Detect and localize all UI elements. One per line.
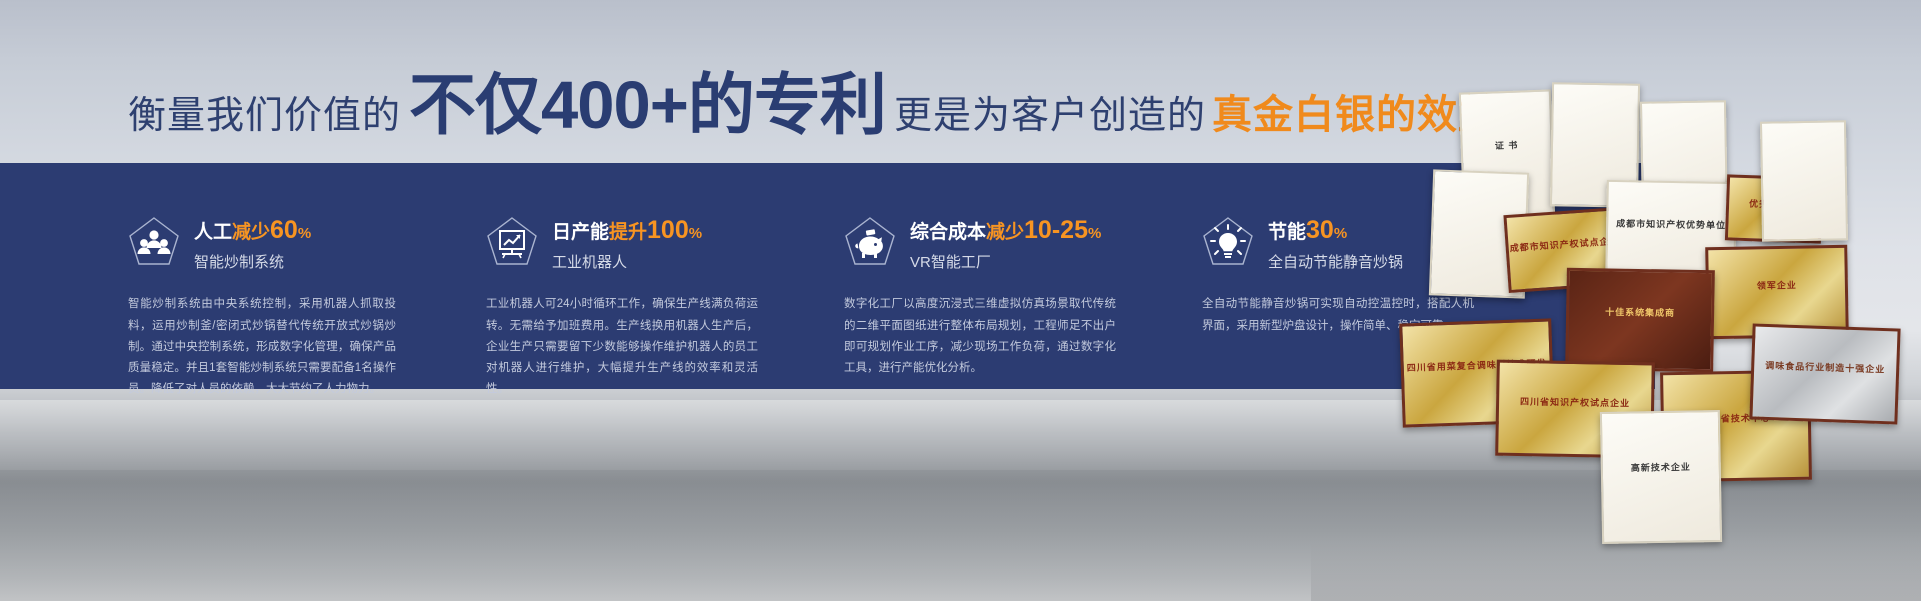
- feature-unit: %: [689, 225, 702, 242]
- feature-item-cost: 综合成本减少10-25% VR智能工厂 数字化工厂以高度沉浸式三维虚拟仿真场景取…: [844, 163, 1174, 389]
- feature-title: 节能30%: [1268, 215, 1403, 246]
- feature-value: 10-25: [1024, 216, 1088, 244]
- certificate-item: 四川省技术中心: [1660, 370, 1812, 483]
- certificate-item: 优秀供应商: [1725, 174, 1823, 243]
- features-list: 人工减少60% 智能炒制系统 智能炒制系统由中央系统控制，采用机器人抓取投料，运…: [0, 163, 1655, 389]
- headline-tail: 更是为客户创造的: [894, 84, 1206, 139]
- feature-body-text: 智能炒制系统由中央系统控制，采用机器人抓取投料，运用炒制釜/密闭式炒锅替代传统开…: [128, 294, 396, 400]
- feature-title: 综合成本减少10-25%: [910, 215, 1101, 246]
- feature-item-labor: 人工减少60% 智能炒制系统 智能炒制系统由中央系统控制，采用机器人抓取投料，运…: [128, 163, 458, 389]
- feature-title: 日产能提升100%: [552, 215, 702, 246]
- certificate-label: 四川省技术中心: [1664, 410, 1808, 426]
- sky-horizon-haze: [0, 400, 1921, 520]
- certificate-item: 领军企业: [1705, 245, 1849, 339]
- feature-subtitle: 智能炒制系统: [194, 251, 311, 272]
- headline-accent: 真金白银的效益: [1212, 82, 1499, 140]
- feature-header: 综合成本减少10-25% VR智能工厂: [844, 215, 1174, 272]
- features-panel: 人工减少60% 智能炒制系统 智能炒制系统由中央系统控制，采用机器人抓取投料，运…: [0, 163, 1655, 389]
- certificate-label: 调味食品行业制造十强企业: [1754, 358, 1896, 376]
- headline-emphasis: 不仅400+的专利: [409, 74, 886, 138]
- certificate-label: 高新技术企业: [1603, 459, 1719, 474]
- certificate-label: 领军企业: [1709, 277, 1845, 292]
- promo-banner: 衡量我们价值的 不仅400+的专利 更是为客户创造的 真金白银的效益: [0, 0, 1921, 601]
- certificate-item: 调味食品行业制造十强企业: [1749, 323, 1900, 424]
- feature-title-highlight: 减少: [232, 222, 270, 243]
- feature-titles: 综合成本减少10-25% VR智能工厂: [910, 215, 1101, 272]
- wall-reflection: [1311, 541, 1921, 601]
- feature-title: 人工减少60%: [194, 215, 311, 246]
- feature-titles: 人工减少60% 智能炒制系统: [194, 215, 311, 272]
- feature-value: 30: [1306, 216, 1334, 244]
- feature-subtitle: 工业机器人: [552, 251, 702, 272]
- certificate-label: 优秀供应商: [1729, 196, 1819, 212]
- feature-body-text: 数字化工厂以高度沉浸式三维虚拟仿真场景取代传统的二维平面图纸进行整体布局规划，工…: [844, 294, 1116, 379]
- feature-subtitle: VR智能工厂: [910, 251, 1101, 272]
- feature-title-highlight: 减少: [986, 222, 1024, 243]
- headline-lead: 衡量我们价值的: [128, 84, 401, 139]
- feature-title-highlight: 提升: [609, 222, 647, 243]
- feature-unit: %: [298, 225, 311, 242]
- feature-body-text: 工业机器人可24小时循环工作，确保生产线满负荷运转。无需给予加班费用。生产线换用…: [486, 294, 758, 400]
- certificate-item: [1760, 120, 1848, 241]
- feature-value: 100: [647, 216, 689, 244]
- water-sheen: [0, 470, 1921, 601]
- piggy-bank-icon: [844, 216, 896, 272]
- feature-header: 日产能提升100% 工业机器人: [486, 215, 816, 272]
- feature-subtitle: 全自动节能静音炒锅: [1268, 251, 1403, 272]
- people-group-icon: [128, 216, 180, 272]
- feature-unit: %: [1334, 225, 1347, 242]
- feature-header: 人工减少60% 智能炒制系统: [128, 215, 458, 272]
- chart-board-icon: [486, 216, 538, 272]
- feature-titles: 节能30% 全自动节能静音炒锅: [1268, 215, 1403, 272]
- certificate-item: 高新技术企业: [1600, 410, 1722, 544]
- feature-unit: %: [1088, 225, 1101, 242]
- feature-value: 60: [270, 216, 298, 244]
- light-bulb-icon: [1202, 216, 1254, 272]
- feature-item-capacity: 日产能提升100% 工业机器人 工业机器人可24小时循环工作，确保生产线满负荷运…: [486, 163, 816, 389]
- headline: 衡量我们价值的 不仅400+的专利 更是为客户创造的 真金白银的效益: [128, 74, 1499, 140]
- certificate-label: 四川省知识产权试点企业: [1499, 394, 1651, 410]
- feature-item-energy: 节能30% 全自动节能静音炒锅 全自动节能静音炒锅可实现自动控温控时，搭配人机界…: [1202, 163, 1532, 389]
- feature-header: 节能30% 全自动节能静音炒锅: [1202, 215, 1532, 272]
- feature-body-text: 全自动节能静音炒锅可实现自动控温控时，搭配人机界面，采用新型炉盘设计，操作简单、…: [1202, 294, 1474, 337]
- feature-titles: 日产能提升100% 工业机器人: [552, 215, 702, 272]
